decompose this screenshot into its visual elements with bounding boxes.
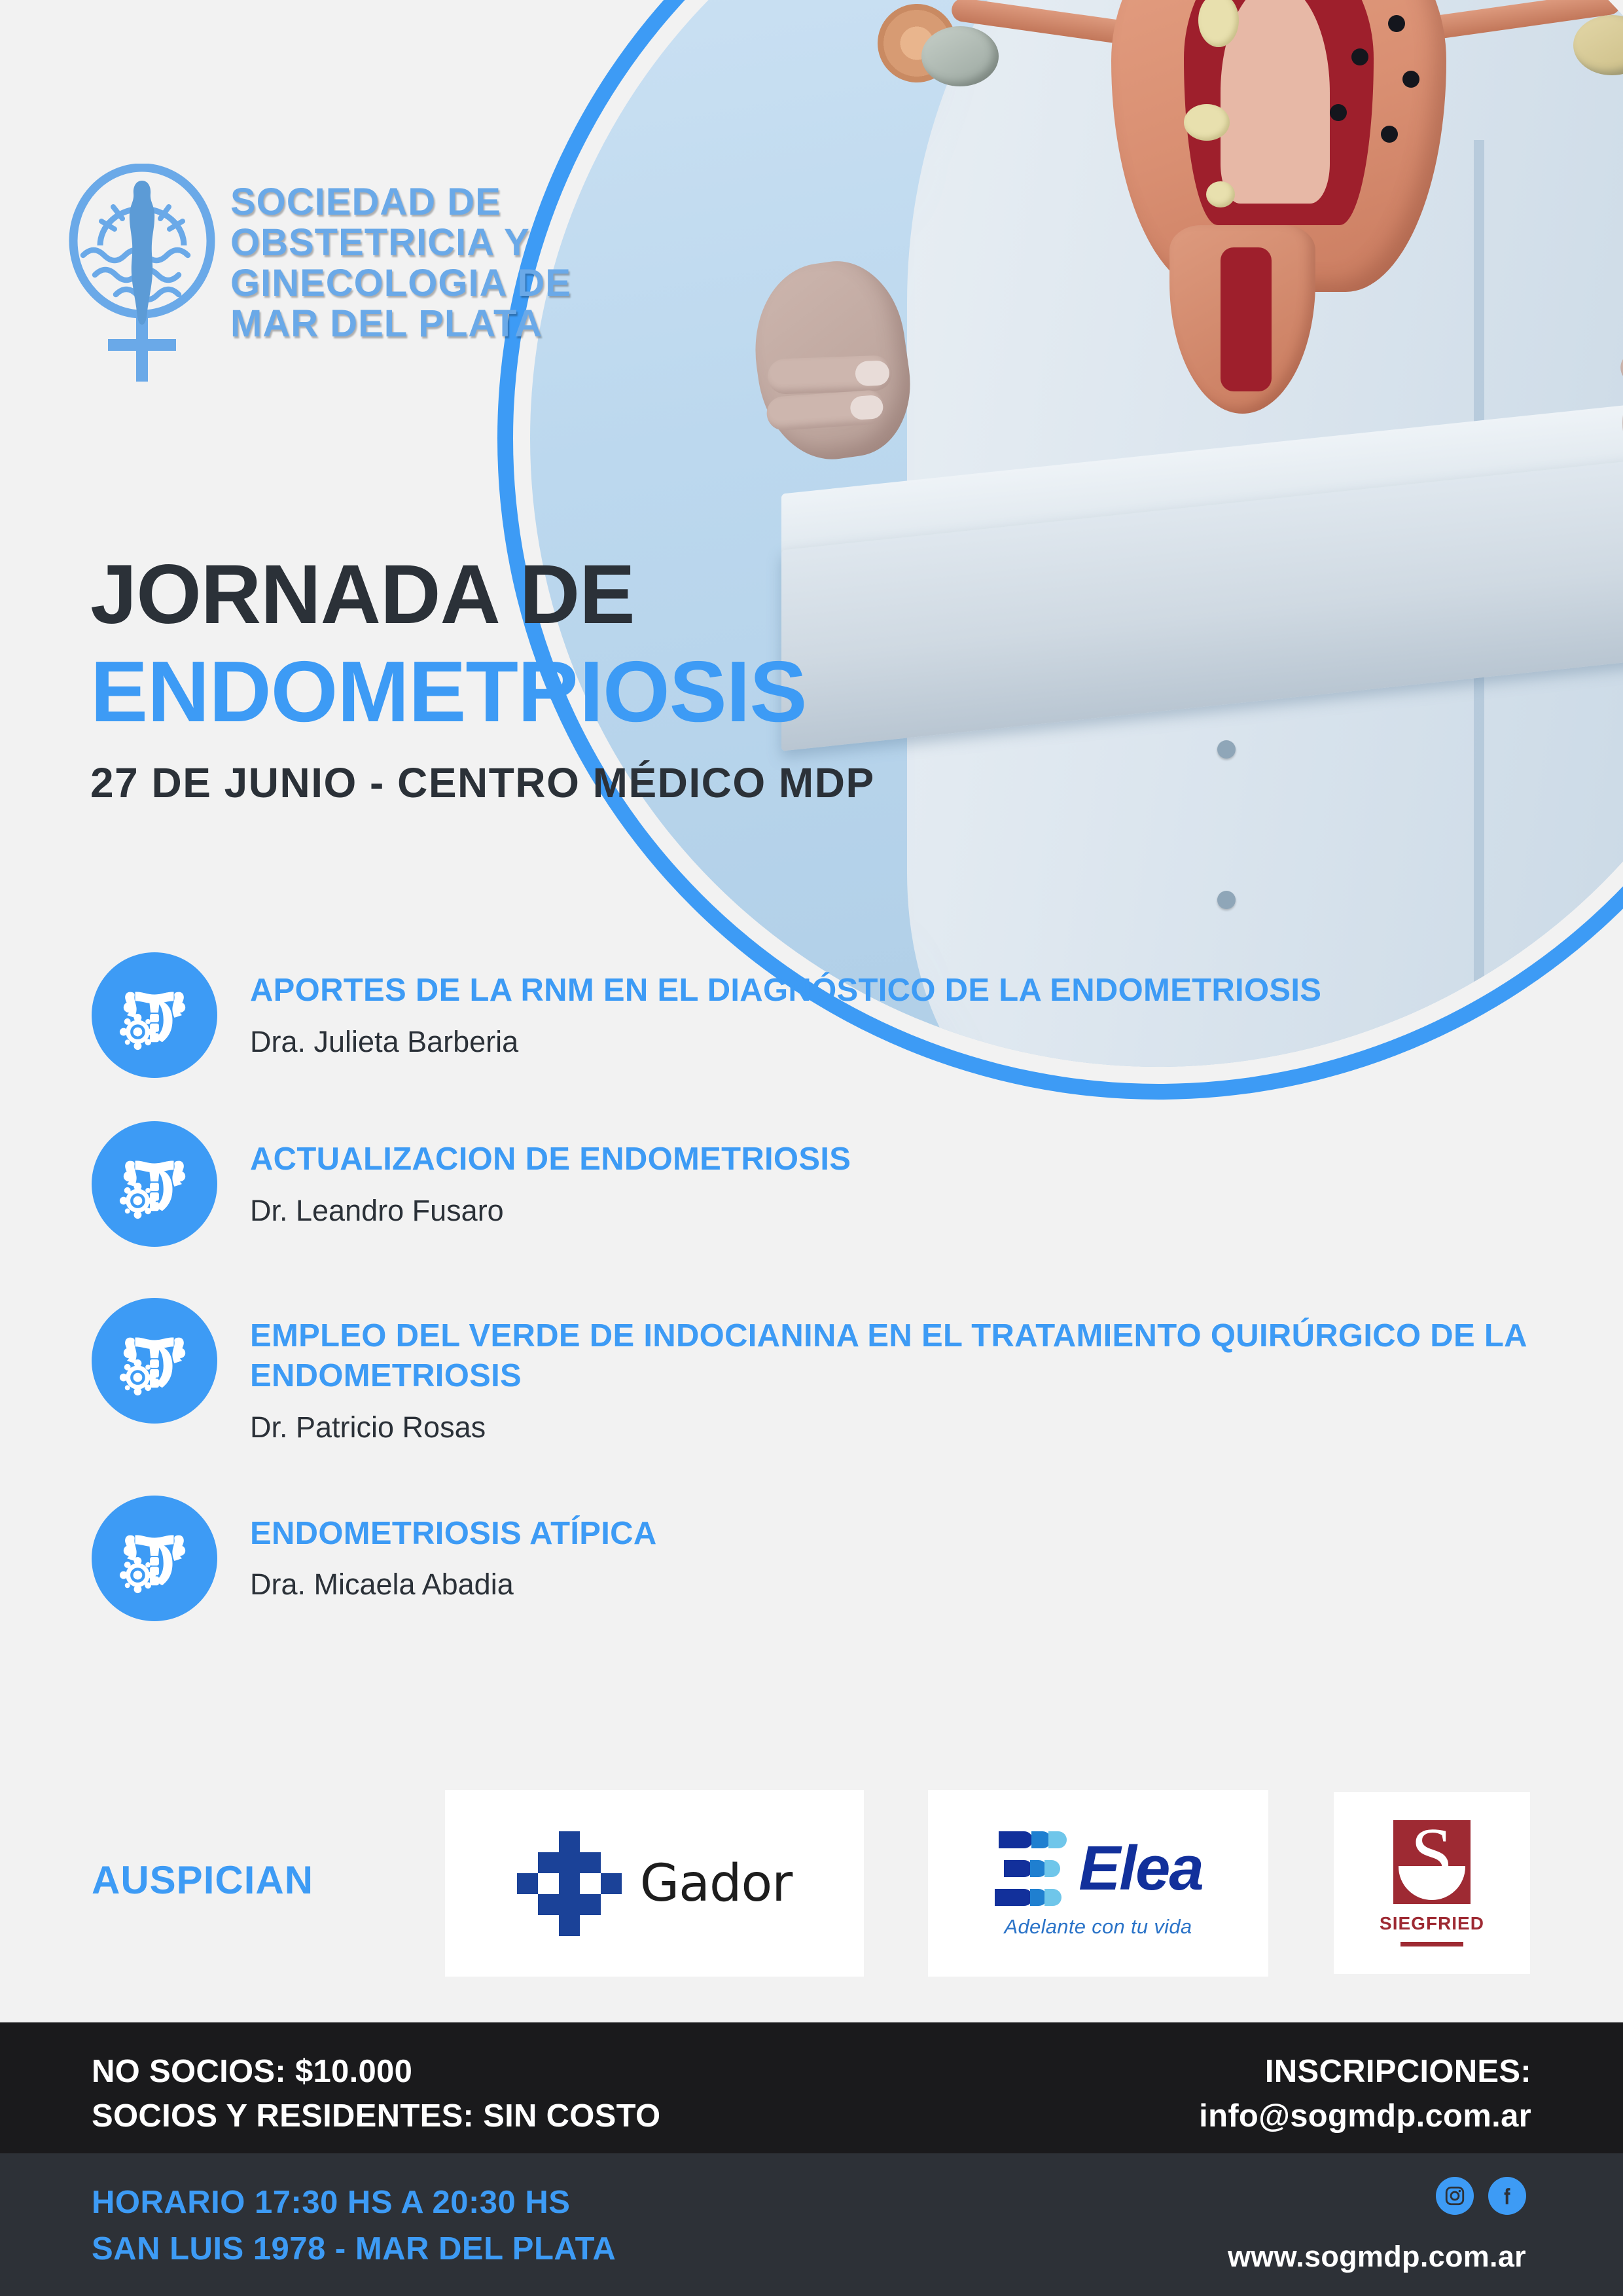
endometriosis-lesion <box>1330 104 1347 121</box>
session-speaker: Dr. Patricio Rosas <box>250 1410 1571 1444</box>
session-speaker: Dra. Julieta Barberia <box>250 1025 1321 1059</box>
footer-pricing-band: NO SOCIOS: $10.000 SOCIOS Y RESIDENTES: … <box>0 2022 1623 2153</box>
coat-button <box>1217 891 1236 909</box>
session-title: APORTES DE LA RNM EN EL DIAGNÓSTICO DE L… <box>250 971 1321 1011</box>
siegfried-rule <box>1400 1942 1463 1946</box>
session-list: APORTES DE LA RNM EN EL DIAGNÓSTICO DE L… <box>92 952 1571 1672</box>
uterus-bacteria-glyph <box>116 977 193 1054</box>
fingernail <box>855 361 889 387</box>
society-name: SOCIEDAD DE OBSTETRICIA Y GINECOLOGIA DE… <box>230 182 571 344</box>
registration-block: INSCRIPCIONES: info@sogmdp.com.ar <box>1199 2050 1531 2138</box>
elea-three-bars-icon <box>993 1829 1071 1909</box>
endometriosis-lesion <box>1402 71 1419 88</box>
coat-button <box>1217 740 1236 759</box>
society-name-line-1: SOCIEDAD DE <box>230 182 571 223</box>
uterus-bacteria-glyph <box>116 1322 193 1399</box>
website-url[interactable]: www.sogmdp.com.ar <box>1228 2240 1526 2274</box>
session-title: EMPLEO DEL VERDE DE INDOCIANINA EN EL TR… <box>250 1316 1571 1396</box>
session-body: ENDOMETRIOSIS ATÍPICA Dra. Micaela Abadi… <box>250 1496 657 1602</box>
session-body: EMPLEO DEL VERDE DE INDOCIANINA EN EL TR… <box>250 1298 1571 1444</box>
siegfried-serpent-bowl-icon: S <box>1393 1820 1471 1904</box>
event-title-line-2: ENDOMETRIOSIS <box>90 649 1111 735</box>
poster-root: SOCIEDAD DE OBSTETRICIA Y GINECOLOGIA DE… <box>0 0 1623 2296</box>
gador-logo: Gador <box>517 1831 793 1936</box>
uterus-anatomical-model <box>907 0 1623 414</box>
uterus-bacteria-icon <box>92 952 217 1078</box>
facebook-icon[interactable] <box>1488 2177 1526 2215</box>
uterus-bacteria-icon <box>92 1121 217 1247</box>
uterus-bacteria-glyph <box>116 1520 193 1597</box>
registration-label: INSCRIPCIONES: <box>1199 2050 1531 2094</box>
event-title-line-1: JORNADA DE <box>90 553 1111 637</box>
ovary-left <box>921 26 999 86</box>
registration-email[interactable]: info@sogmdp.com.ar <box>1199 2094 1531 2139</box>
session-speaker: Dr. Leandro Fusaro <box>250 1194 851 1228</box>
schedule-block: HORARIO 17:30 HS A 20:30 HS SAN LUIS 197… <box>92 2179 616 2272</box>
gador-wordmark: Gador <box>640 1854 793 1913</box>
uterus-bacteria-icon <box>92 1298 217 1424</box>
session-title: ACTUALIZACION DE ENDOMETRIOSIS <box>250 1139 851 1179</box>
siegfried-serpent: S <box>1393 1824 1471 1904</box>
session-body: APORTES DE LA RNM EN EL DIAGNÓSTICO DE L… <box>250 952 1321 1059</box>
society-name-line-4: MAR DEL PLATA <box>230 304 571 344</box>
headline-block: JORNADA DE ENDOMETRIOSIS 27 DE JUNIO - C… <box>90 553 1111 807</box>
event-date-venue: 27 DE JUNIO - CENTRO MÉDICO MDP <box>90 759 1111 807</box>
cervical-canal <box>1221 247 1272 391</box>
session-item: ENDOMETRIOSIS ATÍPICA Dra. Micaela Abadi… <box>92 1496 1571 1621</box>
pricing-members: SOCIOS Y RESIDENTES: SIN COSTO <box>92 2094 660 2139</box>
schedule-time: HORARIO 17:30 HS A 20:30 HS <box>92 2179 616 2226</box>
finger <box>766 355 892 395</box>
instagram-icon[interactable] <box>1436 2177 1474 2215</box>
hero-photo-circle <box>497 0 1623 1100</box>
sponsors-label: AUSPICIAN <box>92 1857 313 1903</box>
finger <box>765 389 886 432</box>
gador-diamond-checker-icon <box>517 1831 622 1936</box>
cyst <box>1206 181 1235 207</box>
elea-logo: Elea Adelante con tu vida <box>993 1829 1202 1939</box>
social-links <box>1436 2177 1526 2215</box>
sponsor-logo-elea: Elea Adelante con tu vida <box>928 1790 1268 1977</box>
elea-tagline: Adelante con tu vida <box>1005 1915 1192 1939</box>
session-body: ACTUALIZACION DE ENDOMETRIOSIS Dr. Leand… <box>250 1121 851 1228</box>
session-title: ENDOMETRIOSIS ATÍPICA <box>250 1514 657 1554</box>
society-logo <box>62 164 223 386</box>
siegfried-wordmark: SIEGFRIED <box>1380 1913 1484 1934</box>
endometriosis-lesion <box>1381 126 1398 143</box>
footer-schedule-band: HORARIO 17:30 HS A 20:30 HS SAN LUIS 197… <box>0 2153 1623 2296</box>
fingernail <box>849 395 883 420</box>
elea-wordmark-row: Elea <box>993 1829 1202 1909</box>
uterus-bacteria-glyph <box>116 1145 193 1223</box>
elea-wordmark: Elea <box>1079 1837 1202 1900</box>
session-item: EMPLEO DEL VERDE DE INDOCIANINA EN EL TR… <box>92 1298 1571 1444</box>
ovary-right <box>1573 15 1623 75</box>
hand-left <box>743 253 920 469</box>
society-name-line-2: OBSTETRICIA Y <box>230 223 571 263</box>
society-name-line-3: GINECOLOGIA DE <box>230 263 571 304</box>
uterus-bacteria-icon <box>92 1496 217 1621</box>
pricing-block: NO SOCIOS: $10.000 SOCIOS Y RESIDENTES: … <box>92 2050 660 2138</box>
schedule-address: SAN LUIS 1978 - MAR DEL PLATA <box>92 2226 616 2272</box>
sponsor-logo-gador: Gador <box>445 1790 864 1977</box>
session-item: APORTES DE LA RNM EN EL DIAGNÓSTICO DE L… <box>92 952 1571 1078</box>
sponsor-logo-siegfried: S SIEGFRIED <box>1334 1792 1530 1974</box>
session-speaker: Dra. Micaela Abadia <box>250 1568 657 1602</box>
female-symbol-sunrise-waves-icon <box>62 164 223 386</box>
cyst <box>1184 104 1230 141</box>
pricing-non-members: NO SOCIOS: $10.000 <box>92 2050 660 2094</box>
siegfried-logo: S SIEGFRIED <box>1380 1820 1484 1946</box>
session-item: ACTUALIZACION DE ENDOMETRIOSIS Dr. Leand… <box>92 1121 1571 1247</box>
